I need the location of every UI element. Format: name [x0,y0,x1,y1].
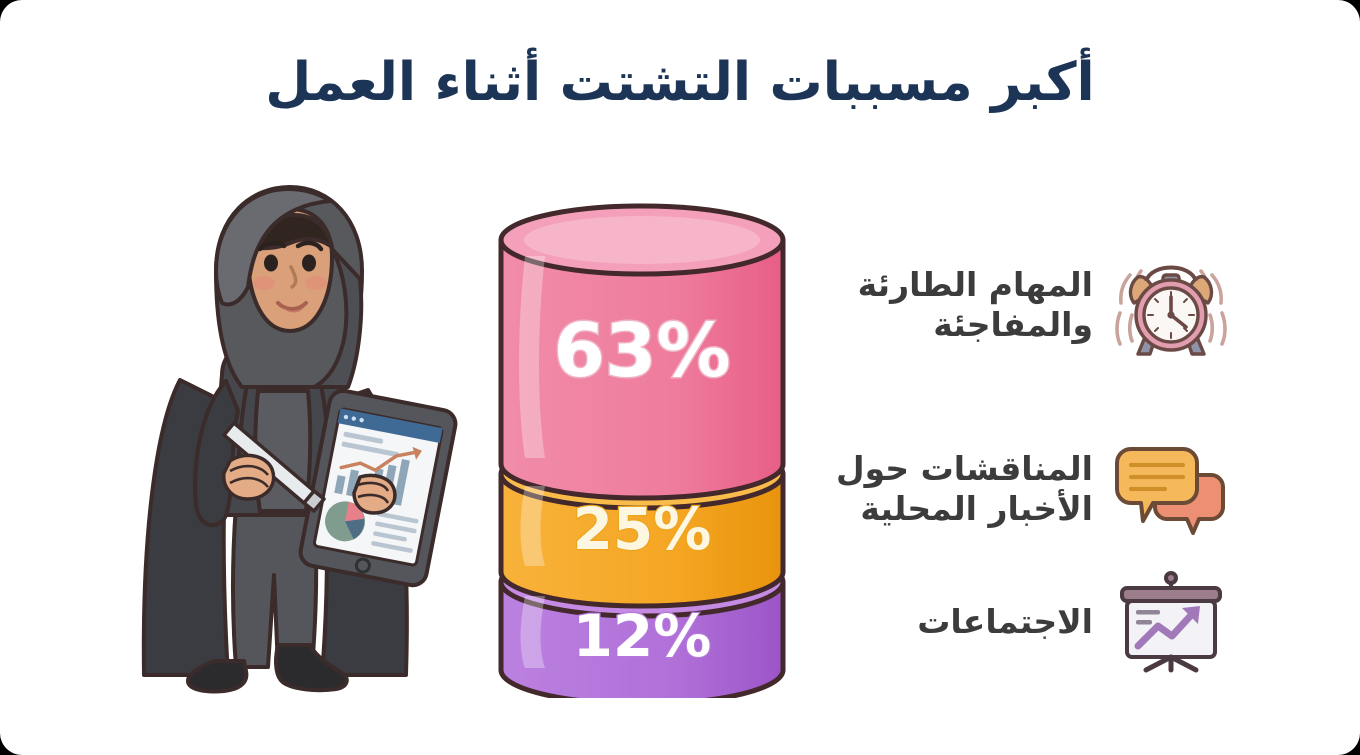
presentation-board-icon [1107,567,1235,677]
alarm-clock-icon [1107,250,1235,360]
businesswoman-illustration [118,175,458,700]
speech-bubbles-icon [1107,434,1235,544]
legend-item-meetings[interactable]: الاجتماعات [815,568,1235,676]
infographic-page: أكبر مسببات التشتت أثناء العمل [0,0,1360,755]
legend-item-urgent-tasks[interactable]: المهام الطارئة والمفاجئة [815,246,1235,364]
legend-label-meetings: الاجتماعات [815,602,1107,642]
legend-label-local-news-discussions: المناقشات حول الأخبار المحلية [815,449,1107,530]
segment-value-0: 63% [553,308,730,394]
legend-label-urgent-tasks: المهام الطارئة والمفاجئة [815,265,1107,346]
legend-item-local-news-discussions[interactable]: المناقشات حول الأخبار المحلية [815,433,1235,545]
segment-value-1: 25% [573,495,712,563]
chart-legend: المهام الطارئة والمفاجئة [815,238,1235,698]
stacked-cylinder-chart: 63% 25% 12% [487,186,797,698]
page-title: أكبر مسببات التشتت أثناء العمل [0,52,1360,115]
segment-value-2: 12% [573,602,712,670]
